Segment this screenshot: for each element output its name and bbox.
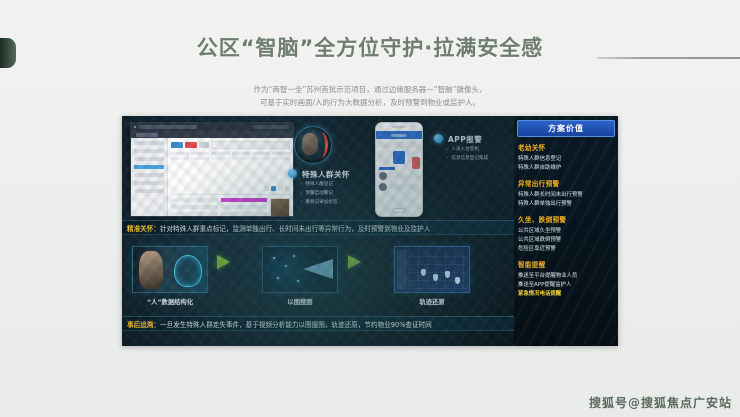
phone-speaker-icon	[392, 126, 406, 128]
td	[171, 157, 189, 160]
slide-canvas: 公区“智脑”全方位守护·拉满安全感 作为“两智一全”苏州首批示范项目，通过边缘服…	[0, 0, 740, 417]
caption-bar-precision-care: 精准关怀： 针对特殊人群重点标记，监测单独出行、长时间未出行等异常行为，及时预警…	[122, 220, 515, 235]
map-pin-icon	[445, 271, 450, 278]
face-recognition-emblem-icon	[294, 126, 332, 164]
solution-value-panel: 方案价值 老幼关怀 特殊人群信息登记 特殊人群自助维护 异常出行预警 特殊人群长…	[514, 116, 618, 346]
panel-header: 方案价值	[517, 120, 615, 137]
phone-section-label	[379, 167, 395, 170]
emblem-arc-shape	[313, 132, 328, 158]
form-field	[171, 205, 218, 209]
network-node	[293, 255, 295, 257]
process-flow-row: “人”数据结构化 以图搜图	[122, 238, 515, 314]
th	[272, 152, 290, 155]
panel-group-item: 特殊人群长时间未出行预警	[518, 191, 614, 200]
process-label-2: 轨迹还原	[394, 297, 470, 306]
panel-group-item: 特殊人群单独出行预警	[518, 200, 614, 209]
dashboard-empty-space	[171, 162, 290, 184]
feature-list-0-items: 特殊人群登记 预警自动警记 重要记录加标签	[300, 180, 338, 207]
platform-dashboard-screenshot	[130, 122, 294, 217]
dashboard-titlebar	[131, 123, 293, 131]
form-field	[171, 212, 218, 216]
caption-key-0: 精准关怀：	[127, 223, 160, 233]
th	[211, 152, 229, 155]
subtitle-line-2: 可基于实时画面/人的行为大数据分析，及时预警到物业或监护人。	[0, 96, 740, 109]
title-rule-divider	[597, 57, 740, 59]
td	[191, 157, 209, 160]
arrow-right-icon	[348, 255, 361, 269]
panel-group-title-2: 久坐、跌倒预警	[518, 214, 614, 224]
th	[252, 152, 270, 155]
feature-list-item: 人员入住登机	[446, 145, 488, 154]
map-pin-icon	[455, 277, 460, 284]
avatar	[379, 183, 387, 191]
feature-list-item: 信息信息登记集成	[446, 154, 488, 163]
phone-list-item	[379, 172, 419, 180]
dashboard-tag-primary	[171, 142, 183, 148]
network-node	[285, 265, 287, 267]
process-step-0: “人”数据结构化	[132, 246, 208, 306]
page-number	[264, 186, 269, 191]
dashboard-subbar	[131, 131, 293, 138]
dashboard-nav-item-active	[134, 165, 164, 169]
process-image-face-structuring	[132, 246, 208, 293]
avatar	[379, 172, 387, 180]
page-subtitle: 作为“两智一全”苏州首批示范项目，通过边缘服务器—“智脑”摄像头， 可基于实时画…	[0, 83, 740, 109]
dashboard-sidebar	[131, 138, 168, 216]
th	[191, 152, 209, 155]
panel-group-item: 公共区域跌倒预警	[518, 236, 614, 245]
dashboard-search-field	[211, 141, 290, 149]
th	[232, 152, 250, 155]
app-alert-bullet-dot-icon	[434, 134, 443, 143]
feature-list-1-items: 人员入住登机 信息信息登记集成	[446, 145, 488, 163]
dashboard-title-placeholder	[139, 125, 197, 129]
biometric-scan-icon	[174, 255, 202, 287]
page-number-active	[271, 186, 276, 191]
subtitle-line-1: 作为“两智一全”苏州首批示范项目，通过边缘服务器—“智脑”摄像头，	[0, 83, 740, 96]
board-top-zone: 特殊人群关怀 特殊人群登记 预警自动警记 重要记录加标签	[122, 116, 515, 220]
form-field-highlighted	[221, 198, 268, 202]
panel-group-item-highlighted: 紧急情况电话提醒	[518, 290, 614, 299]
dashboard-filter-row	[171, 141, 290, 149]
panel-group-item: 公共区域久坐预警	[518, 227, 614, 236]
feature-list-0: 特殊人群登记 预警自动警记 重要记录加标签	[300, 180, 338, 207]
dashboard-subbar-item	[136, 133, 158, 137]
th	[171, 152, 189, 155]
panel-group-item: 危险区靠近预警	[518, 245, 614, 254]
phone-list-item	[379, 183, 419, 191]
panel-group-title-1: 异常出行预警	[518, 178, 614, 188]
dashboard-tag-neutral	[199, 142, 209, 148]
dashboard-content	[168, 138, 293, 216]
panel-group-title-3: 智能提醒	[518, 259, 614, 269]
map-pin-icon	[421, 269, 426, 276]
process-label-1: 以图搜图	[262, 297, 338, 306]
td	[211, 157, 229, 160]
arrow-right-icon	[217, 255, 230, 269]
form-column-right	[221, 198, 268, 217]
dashboard-detail-form	[171, 194, 290, 217]
network-node	[273, 257, 275, 259]
dashboard-logo-icon	[134, 126, 136, 128]
dashboard-table-row	[171, 157, 290, 160]
process-label-0: “人”数据结构化	[132, 297, 208, 306]
feature-list-item: 预警自动警记	[300, 189, 338, 198]
panel-group-0: 老幼关怀 特殊人群信息登记 特殊人群自助维护	[514, 142, 618, 173]
panel-group-2: 久坐、跌倒预警 公共区域久坐预警 公共区域跌倒预警 危险区靠近预警	[514, 214, 618, 254]
process-step-2: 轨迹还原	[394, 246, 470, 306]
map-pin-icon	[433, 274, 438, 281]
caption-key-1: 事后追溯：	[127, 319, 160, 329]
dashboard-nav-item	[134, 181, 164, 185]
phone-alert-badge	[412, 157, 420, 169]
process-image-image-search	[262, 246, 338, 293]
dashboard-nav-item	[134, 141, 164, 145]
dashboard-nav-item	[134, 189, 164, 193]
dashboard-nav-item	[134, 157, 164, 161]
network-node	[277, 277, 279, 279]
feature-list-item: 特殊人群登记	[300, 180, 338, 189]
panel-group-item: 特殊人群信息登记	[518, 155, 614, 164]
form-column-left	[171, 198, 218, 217]
phone-speaker-area	[376, 123, 422, 131]
caption-value-0: 针对特殊人群重点标记，监测单独出行、长时间未出行等异常行为，及时预警到物业及监护…	[160, 223, 430, 233]
td	[252, 157, 270, 160]
phone-app-header	[376, 131, 422, 139]
process-image-track-restore	[394, 246, 470, 293]
page-number	[285, 186, 290, 191]
page-number	[278, 186, 283, 191]
phone-list-text	[389, 184, 419, 190]
watermark: 搜狐号@搜狐焦点广安站	[589, 394, 732, 411]
process-step-1: 以图搜图	[262, 246, 338, 306]
phone-search-field	[379, 142, 419, 148]
portrait-shape	[139, 251, 163, 289]
form-field	[221, 205, 268, 209]
map-sidepanel	[397, 250, 407, 289]
panel-group-item: 推送至平台提醒物业人员	[518, 272, 614, 281]
panel-group-item: 特殊人群自助维护	[518, 164, 614, 173]
dashboard-tag-alert	[185, 142, 197, 148]
td	[272, 157, 290, 160]
dashboard-pagination	[171, 186, 290, 191]
phone-home-indicator	[392, 208, 406, 213]
form-field	[171, 198, 218, 202]
person-photo-thumbnail	[270, 198, 290, 217]
panel-group-item: 推送至APP提醒监护人	[518, 281, 614, 290]
panel-group-title-0: 老幼关怀	[518, 142, 614, 152]
td	[232, 157, 250, 160]
phone-list-text	[389, 173, 419, 179]
form-field	[221, 212, 268, 216]
dashboard-nav-item	[134, 173, 164, 177]
panel-group-1: 异常出行预警 特殊人群长时间未出行预警 特殊人群单独出行预警	[514, 178, 618, 209]
caption-value-1: 一旦发生特殊人群走失事件，基于视频分析能力以图搜图，轨迹还原，节约物业90%查证…	[160, 319, 432, 329]
phone-shortcut	[379, 151, 391, 164]
dashboard-nav-item	[134, 149, 164, 153]
mobile-app-screenshot	[375, 122, 423, 217]
network-node	[297, 280, 299, 282]
light-cone-shape	[303, 259, 333, 279]
phone-app-title-placeholder	[391, 134, 407, 137]
phone-shortcut-active	[393, 151, 405, 164]
feature-list-item: 重要记录加标签	[300, 198, 338, 207]
feature-list-1: 人员入住登机 信息信息登记集成	[446, 145, 488, 163]
dashboard-table-header	[171, 152, 290, 155]
feature-title-0: 特殊人群关怀	[302, 169, 350, 180]
panel-group-3: 智能提醒 推送至平台提醒物业人员 推送至APP提醒监护人 紧急情况电话提醒	[514, 259, 618, 299]
dashboard-usermenu-placeholder	[253, 125, 289, 129]
caption-bar-post-trace: 事后追溯： 一旦发生特殊人群走失事件，基于视频分析能力以图搜图，轨迹还原，节约物…	[122, 316, 515, 331]
feature-bullet-dot-icon	[288, 169, 297, 178]
feature-title-1: APP报警	[448, 134, 482, 145]
dashboard-body	[131, 138, 293, 216]
